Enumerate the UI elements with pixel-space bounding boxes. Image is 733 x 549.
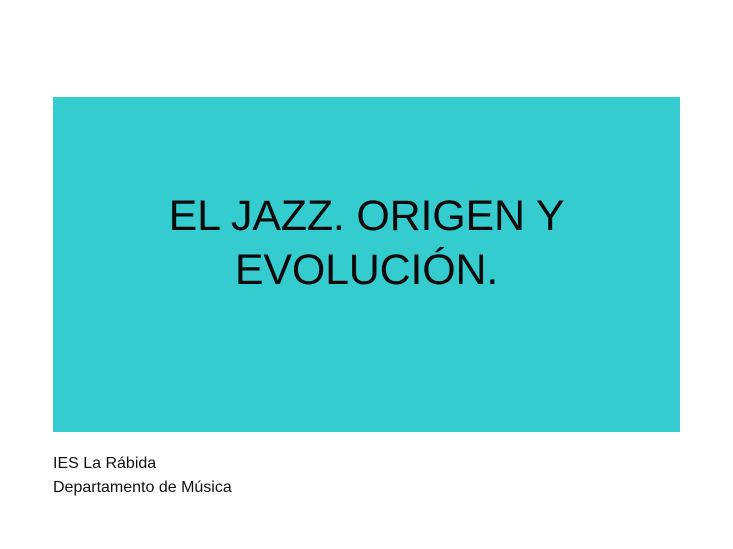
footer-credit-block: IES La Rábida Departamento de Música <box>53 452 473 500</box>
title-banner: EL JAZZ. ORIGEN Y EVOLUCIÓN. <box>53 97 680 432</box>
presentation-slide: EL JAZZ. ORIGEN Y EVOLUCIÓN. IES La Rábi… <box>0 0 733 549</box>
footer-department: Departamento de Música <box>53 476 473 500</box>
footer-institution: IES La Rábida <box>53 452 473 476</box>
slide-title: EL JAZZ. ORIGEN Y EVOLUCIÓN. <box>53 189 680 297</box>
